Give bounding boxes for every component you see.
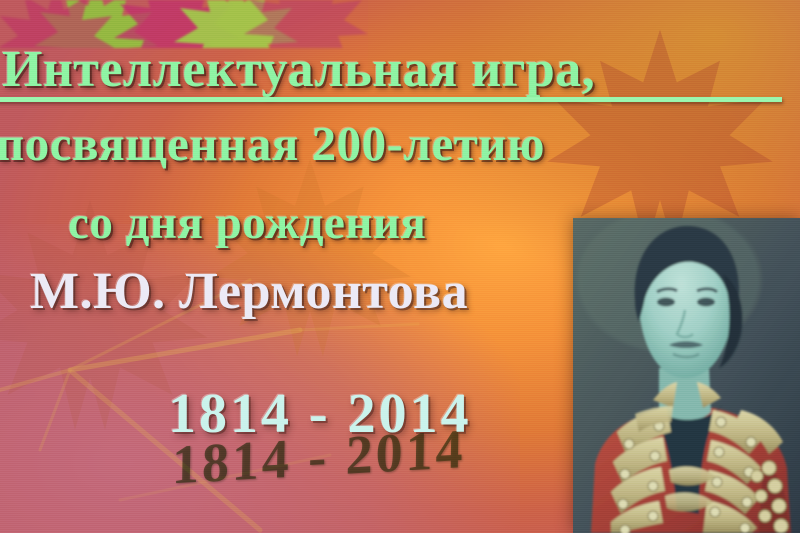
title-line-1-underline — [0, 97, 782, 102]
title-line-1: Интеллектуальная игра, — [2, 40, 595, 99]
title-line-4-author: М.Ю. Лермонтова — [30, 262, 468, 321]
presentation-slide: Интеллектуальная игра, посвященная 200-л… — [0, 0, 800, 533]
slide-title-block: Интеллектуальная игра, посвященная 200-л… — [0, 0, 800, 533]
title-line-2: посвященная 200-летию — [0, 115, 545, 172]
title-line-3: со дня рождения — [68, 196, 426, 250]
years-range-text: 1814 - 2014 — [168, 382, 472, 446]
